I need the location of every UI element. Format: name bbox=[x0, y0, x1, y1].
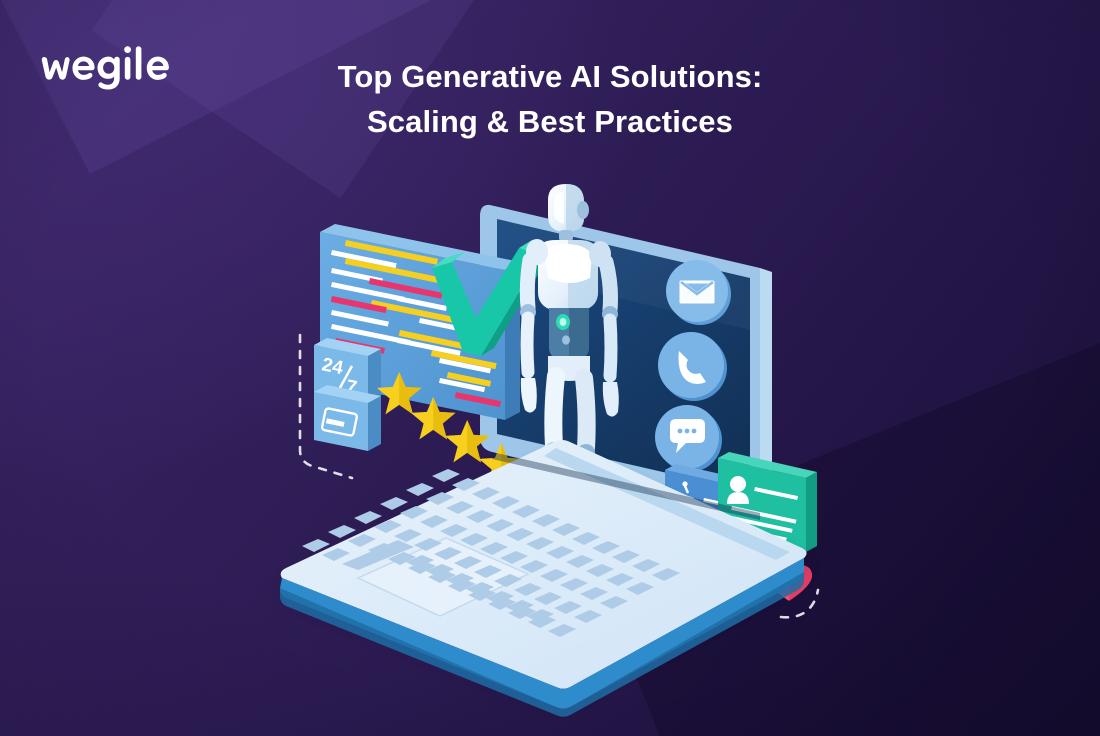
poster-canvas: wegile Top Generative AI Solutions: Scal… bbox=[0, 0, 1100, 736]
robot-abdomen-shade bbox=[569, 308, 589, 362]
user-card-side bbox=[806, 472, 817, 552]
robot-face-visor bbox=[554, 192, 564, 224]
robot-arm-right bbox=[602, 262, 619, 417]
robot-ear bbox=[577, 201, 589, 219]
robot-chest-plate bbox=[544, 244, 592, 283]
hero-illustration: 24 7 bbox=[0, 0, 1100, 736]
card-tile-side bbox=[368, 396, 381, 451]
card-icon-tile bbox=[314, 385, 381, 451]
robot-core-light-2 bbox=[562, 335, 570, 344]
